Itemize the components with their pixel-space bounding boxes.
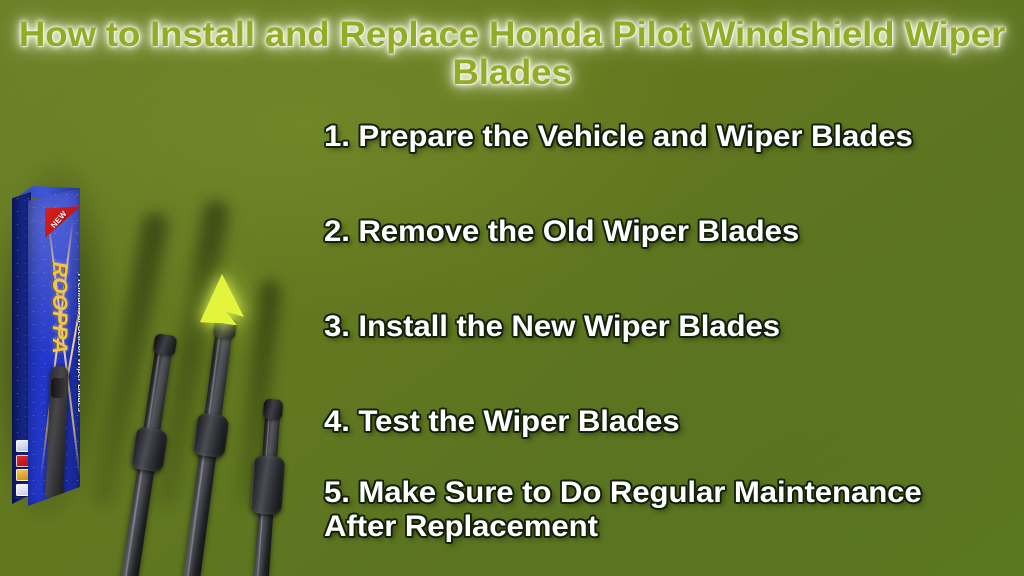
product-tagline: Premium All-Season Wiper Blades: [76, 268, 80, 418]
page-title-text: How to Install and Replace Honda Pilot W…: [0, 16, 1024, 92]
infographic-poster: How to Install and Replace Honda Pilot W…: [0, 0, 1024, 576]
product-photo: ROOPPA Premium All-Season Wiper Blades N…: [0, 150, 330, 520]
certification-badge: [16, 484, 29, 496]
blade-connector-ribs: [192, 413, 230, 459]
list-item: 5. Make Sure to Do Regular Maintenance A…: [324, 476, 922, 544]
list-item: 3. Install the New Wiper Blades: [324, 310, 780, 344]
certification-badge: [16, 455, 29, 467]
blade-connector-ribs: [250, 455, 285, 515]
certification-badge: [16, 440, 29, 452]
certification-badge: [16, 469, 29, 481]
list-item: 2. Remove the Old Wiper Blades: [324, 215, 799, 249]
blade-tip: [153, 333, 177, 356]
blade-tip: [263, 399, 284, 420]
pointer-arrow-icon: [192, 268, 262, 330]
list-item: 1. Prepare the Vehicle and Wiper Blades: [324, 120, 913, 154]
list-item: 4. Test the Wiper Blades: [324, 405, 680, 439]
page-title: How to Install and Replace Honda Pilot W…: [0, 16, 1024, 92]
box-printed-blade-clip: [50, 378, 66, 399]
product-brand-name: ROOPPA: [47, 238, 71, 378]
product-box-icon: ROOPPA Premium All-Season Wiper Blades N…: [10, 170, 90, 510]
box-front-face: ROOPPA Premium All-Season Wiper Blades N…: [28, 188, 80, 506]
blade-arm-connector: [192, 413, 230, 459]
blade-arm-connector: [130, 426, 168, 472]
blade-arm-connector: [250, 455, 285, 515]
blade-connector-ribs: [130, 426, 168, 472]
